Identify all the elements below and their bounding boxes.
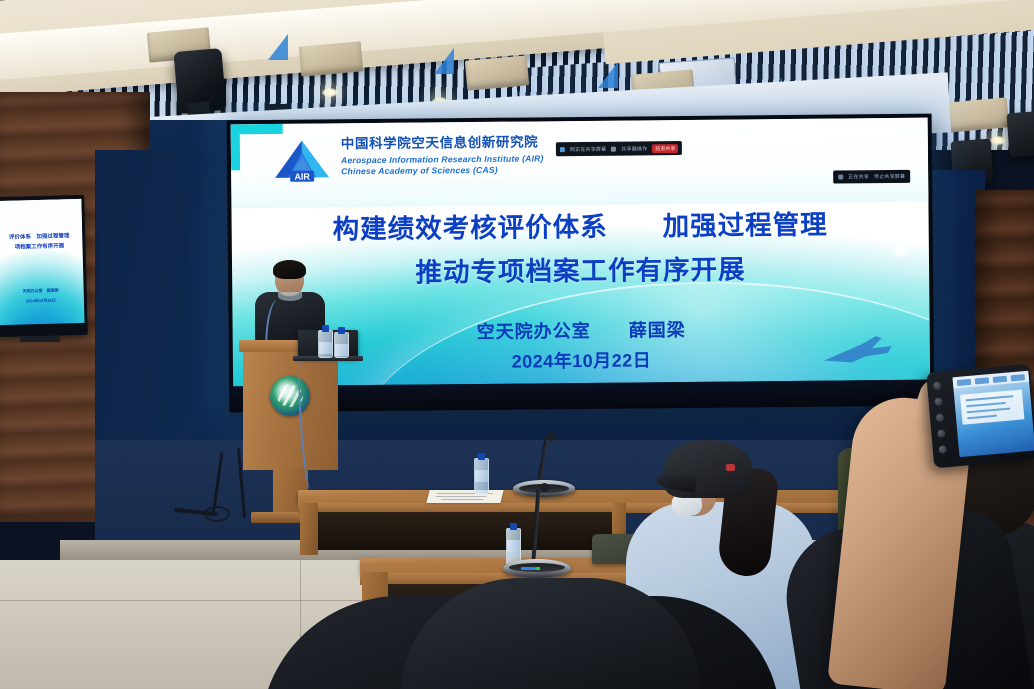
- side-monitor-header: [0, 199, 82, 231]
- org-name-en-2: Chinese Academy of Sciences (CAS): [341, 164, 544, 177]
- ceiling-accent-2: [434, 48, 454, 74]
- share-settings-icon[interactable]: [611, 146, 616, 151]
- ceiling-speaker-far-right: [1007, 111, 1034, 158]
- ceiling-soffit-3: [465, 55, 529, 90]
- phone-slide-line: [967, 415, 997, 420]
- side-monitor-presenter: 天院办公室 薛国梁: [0, 287, 84, 295]
- ceiling-accent-1: [268, 34, 288, 60]
- ceiling-projector: [173, 48, 226, 114]
- svg-text:AIR: AIR: [294, 172, 310, 182]
- bottle-cap: [510, 523, 517, 530]
- slide-title-line-2: 推动专项档案工作有序开展: [232, 246, 929, 292]
- ceiling-accent-3: [598, 62, 618, 88]
- share-status-label: 网正在共享屏幕: [570, 145, 606, 152]
- phone-side-button-1[interactable]: [933, 381, 942, 390]
- mic-status-led: [535, 567, 540, 570]
- bottle-cap: [478, 453, 485, 460]
- air-logo-icon: AIR: [271, 137, 333, 186]
- phone-toolbar-chip-3[interactable]: [993, 376, 1007, 383]
- document-line: [436, 496, 486, 497]
- audience-member-foreground: [260, 596, 780, 689]
- slide-title-line-1: 构建绩效考核评价体系 加强过程管理: [231, 202, 928, 248]
- ceiling-downlight-1: [322, 88, 338, 97]
- mic-capsule: [547, 432, 556, 441]
- smartphone-recording[interactable]: [926, 364, 1034, 469]
- mic-capsule: [540, 483, 549, 492]
- bottle-stage-1: [318, 330, 333, 358]
- side-monitor-date: 2024年10月22日: [0, 297, 84, 305]
- phone-app-toolbar[interactable]: [953, 371, 1030, 389]
- bottle-label: [319, 342, 332, 354]
- phone-toolbar-chip-1[interactable]: [957, 379, 971, 386]
- phone-side-button-4[interactable]: [937, 429, 946, 438]
- phone-screen[interactable]: [953, 371, 1034, 457]
- phone-toolbar-chip-2[interactable]: [975, 377, 989, 384]
- phone-side-button-2[interactable]: [934, 397, 943, 406]
- phone-slide-line: [965, 395, 1013, 401]
- org-name-en-1: Aerospace Information Research Institute…: [341, 153, 544, 166]
- phone-slide-line: [966, 402, 1006, 407]
- phone-slide-line: [967, 407, 1011, 413]
- side-monitor-title-2: 项档案工作有序开展: [0, 241, 83, 251]
- bottle-label: [335, 344, 348, 356]
- side-monitor-screen: 评价体系 加强过程管理 项档案工作有序开展 天院办公室 薛国梁 2024年10月…: [0, 199, 85, 325]
- share-secondary-label-1: 正在共享: [848, 173, 869, 180]
- bottle-back-table: [474, 458, 489, 494]
- bottle-cap: [322, 325, 329, 332]
- conference-hall-photo: 评价体系 加强过程管理 项档案工作有序开展 天院办公室 薛国梁 2024年10月…: [0, 0, 1034, 689]
- ceiling-downlight-6: [990, 136, 1006, 145]
- microphone-unit-front[interactable]: [503, 551, 571, 577]
- org-name-cn: 中国科学院空天信息创新研究院: [341, 135, 544, 152]
- slide-title: 构建绩效考核评价体系 加强过程管理 推动专项档案工作有序开展: [231, 202, 929, 292]
- side-monitor: 评价体系 加强过程管理 项档案工作有序开展 天院办公室 薛国梁 2024年10月…: [0, 195, 88, 337]
- screen-share-toolbar-secondary[interactable]: 正在共享 停止共享屏幕: [833, 170, 910, 184]
- share-secondary-label-2[interactable]: 停止共享屏幕: [874, 173, 905, 180]
- document-line: [441, 499, 483, 500]
- side-monitor-title-1: 评价体系 加强过程管理: [0, 231, 82, 241]
- audience-cap-clip: [726, 464, 735, 471]
- stop-share-button[interactable]: 结束共享: [652, 144, 678, 153]
- ceiling-soffit-2: [299, 41, 363, 76]
- share-signal-icon: [560, 147, 565, 152]
- phone-captured-slide: [960, 389, 1024, 424]
- document-on-back-table: [426, 490, 503, 503]
- bottle-cap: [338, 327, 345, 334]
- bottle-label: [475, 470, 488, 482]
- phone-side-button-5[interactable]: [938, 445, 947, 454]
- presenter-hair: [273, 260, 306, 279]
- share-secondary-icon: [838, 174, 843, 179]
- slide-accent-side: [231, 124, 240, 170]
- presenter-collar: [278, 292, 302, 301]
- share-controls-label[interactable]: 共享器操作: [621, 145, 647, 152]
- phone-toolbar-chip-4[interactable]: [1011, 374, 1025, 381]
- phone-side-button-3[interactable]: [936, 413, 945, 422]
- ceiling-soffit-6: [945, 97, 1009, 132]
- table-back-recess: [316, 512, 616, 550]
- institute-branding: AIR 中国科学院空天信息创新研究院 Aerospace Information…: [271, 135, 544, 186]
- mic-indicator-strip: [521, 567, 535, 570]
- table-back-leg-left: [300, 503, 318, 555]
- bottle-stage-2: [334, 332, 349, 358]
- side-monitor-stand: [20, 336, 60, 342]
- screen-share-toolbar[interactable]: 网正在共享屏幕 共享器操作 结束共享: [556, 141, 683, 156]
